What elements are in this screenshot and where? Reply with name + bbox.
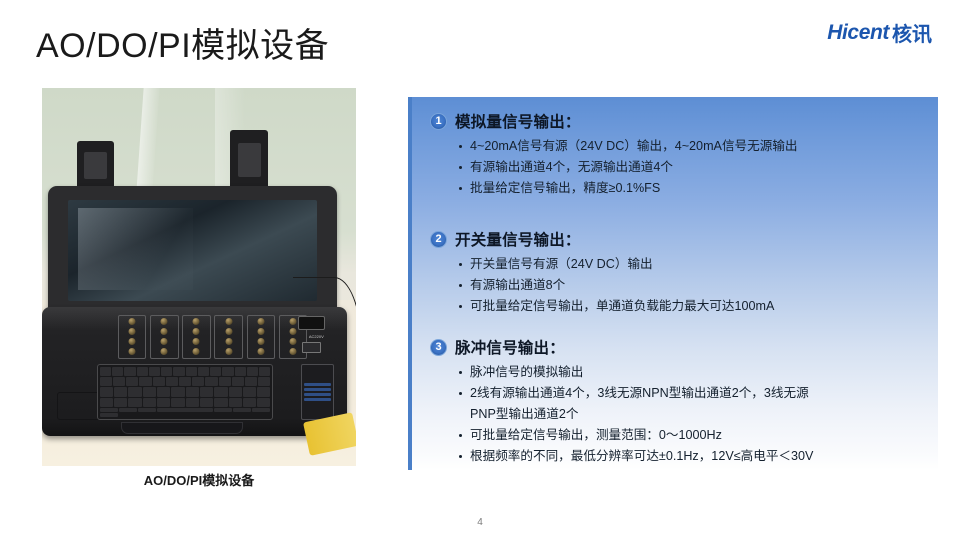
bnc-connector: [161, 338, 168, 345]
section-header: 1 模拟量信号输出：: [430, 110, 940, 132]
keyboard-row: [100, 387, 271, 396]
keyboard-row: [100, 408, 271, 417]
section-number-badge: 3: [430, 339, 447, 356]
bnc-connector: [193, 348, 200, 355]
bnc-connector: [225, 328, 232, 335]
photo-caption: AO/DO/PI模拟设备: [42, 470, 356, 489]
bullet-item: 可批量给定信号输出，测量范围：0～1000Hz: [457, 425, 940, 446]
keyboard-row: [100, 367, 271, 376]
bullet-item: 可批量给定信号输出，单通道负载能力最大可达100mA: [457, 296, 940, 317]
section-title: 脉冲信号输出：: [455, 336, 565, 358]
case-latch-right: [230, 130, 268, 190]
keyboard-row: [100, 377, 271, 386]
bullet-item: 批量给定信号输出，精度≥0.1%FS: [457, 178, 940, 199]
section-number-badge: 2: [430, 231, 447, 248]
section-bullet-list: 脉冲信号的模拟输出 2线有源输出通道4个，3线无源NPN型输出通道2个，3线无源…: [430, 362, 940, 467]
screen-glare: [78, 208, 192, 291]
page-title: AO/DO/PI模拟设备: [36, 18, 329, 67]
page-number: 4: [0, 517, 960, 528]
bullet-item: 根据频率的不同，最低分辨率可达±0.1Hz，12V≤高电平＜30V: [457, 446, 940, 467]
product-photo: 中国核电工程有限公司虚拟仪系列: [42, 88, 356, 466]
bullet-item: 2线有源输出通道4个，3线无源NPN型输出通道2个，3线无源 PNP型输出通道2…: [457, 383, 940, 425]
section-header: 2 开关量信号输出：: [430, 228, 940, 250]
section-title: 开关量信号输出：: [455, 228, 581, 250]
bnc-connector: [161, 348, 168, 355]
bnc-group: [214, 315, 242, 359]
device-keyboard: [97, 364, 274, 421]
bullet-item: 有源输出通道4个，无源输出通道4个: [457, 157, 940, 178]
case-carry-handle: [121, 422, 243, 435]
bnc-connector: [257, 318, 264, 325]
spec-section-3: 3 脉冲信号输出： 脉冲信号的模拟输出 2线有源输出通道4个，3线无源NPN型输…: [430, 336, 940, 467]
spec-section-1: 1 模拟量信号输出： 4~20mA信号有源（24V DC）输出，4~20mA信号…: [430, 110, 940, 199]
brand-logo: Hicent 核讯: [827, 18, 932, 47]
connector-panel: [118, 315, 307, 359]
bullet-item: 开关量信号有源（24V DC）输出: [457, 254, 940, 275]
bullet-item: 4~20mA信号有源（24V DC）输出，4~20mA信号无源输出: [457, 136, 940, 157]
bnc-connector: [193, 328, 200, 335]
bnc-connector: [225, 338, 232, 345]
device-screen: [68, 200, 316, 301]
section-number-badge: 1: [430, 113, 447, 130]
logo-chinese-text: 核讯: [892, 18, 932, 47]
slide: AO/DO/PI模拟设备 Hicent 核讯 中国核电工程有限公司虚拟仪系列: [0, 0, 960, 540]
section-header: 3 脉冲信号输出：: [430, 336, 940, 358]
bnc-group: [247, 315, 275, 359]
section-title: 模拟量信号输出：: [455, 110, 581, 132]
bnc-connector: [225, 348, 232, 355]
bnc-connector: [193, 338, 200, 345]
section-bullet-list: 4~20mA信号有源（24V DC）输出，4~20mA信号无源输出 有源输出通道…: [430, 136, 940, 199]
bnc-connector: [129, 338, 136, 345]
bnc-connector: [257, 328, 264, 335]
bnc-connector: [129, 318, 136, 325]
panel-side-handle: [57, 392, 100, 420]
bullet-item: 有源输出通道8个: [457, 275, 940, 296]
bnc-connector: [129, 328, 136, 335]
bnc-group: [118, 315, 146, 359]
logo-english-text: Hicent: [827, 21, 889, 45]
spec-section-2: 2 开关量信号输出： 开关量信号有源（24V DC）输出 有源输出通道8个 可批…: [430, 228, 940, 317]
bnc-group: [182, 315, 210, 359]
bnc-connector: [161, 328, 168, 335]
bnc-connector: [257, 338, 264, 345]
specifications-panel: 1 模拟量信号输出： 4~20mA信号有源（24V DC）输出，4~20mA信号…: [408, 97, 938, 470]
bnc-connector: [193, 318, 200, 325]
bnc-connector: [129, 348, 136, 355]
keyboard-row: [100, 398, 271, 407]
photo-background: 中国核电工程有限公司虚拟仪系列: [42, 88, 356, 466]
bnc-connector: [161, 318, 168, 325]
bnc-connector: [225, 318, 232, 325]
bullet-item: 脉冲信号的模拟输出: [457, 362, 940, 383]
section-bullet-list: 开关量信号有源（24V DC）输出 有源输出通道8个 可批量给定信号输出，单通道…: [430, 254, 940, 317]
case-latch-left: [77, 141, 115, 190]
bnc-connector: [257, 348, 264, 355]
bnc-group: [150, 315, 178, 359]
